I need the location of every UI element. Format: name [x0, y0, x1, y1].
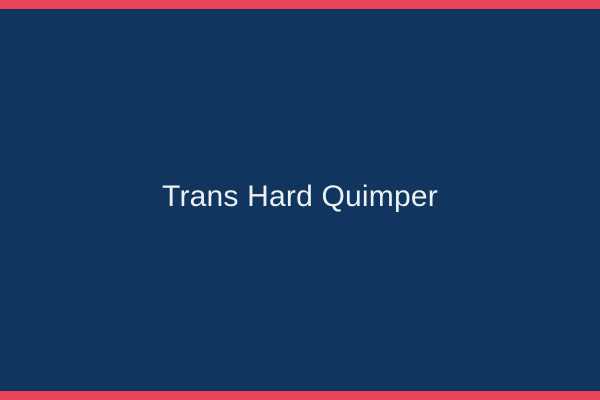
top-accent-bar	[0, 0, 600, 9]
banner-content-area: Trans Hard Quimper	[0, 9, 600, 391]
banner-title: Trans Hard Quimper	[146, 180, 454, 215]
placeholder-banner: Trans Hard Quimper	[0, 0, 600, 400]
bottom-accent-bar	[0, 391, 600, 400]
